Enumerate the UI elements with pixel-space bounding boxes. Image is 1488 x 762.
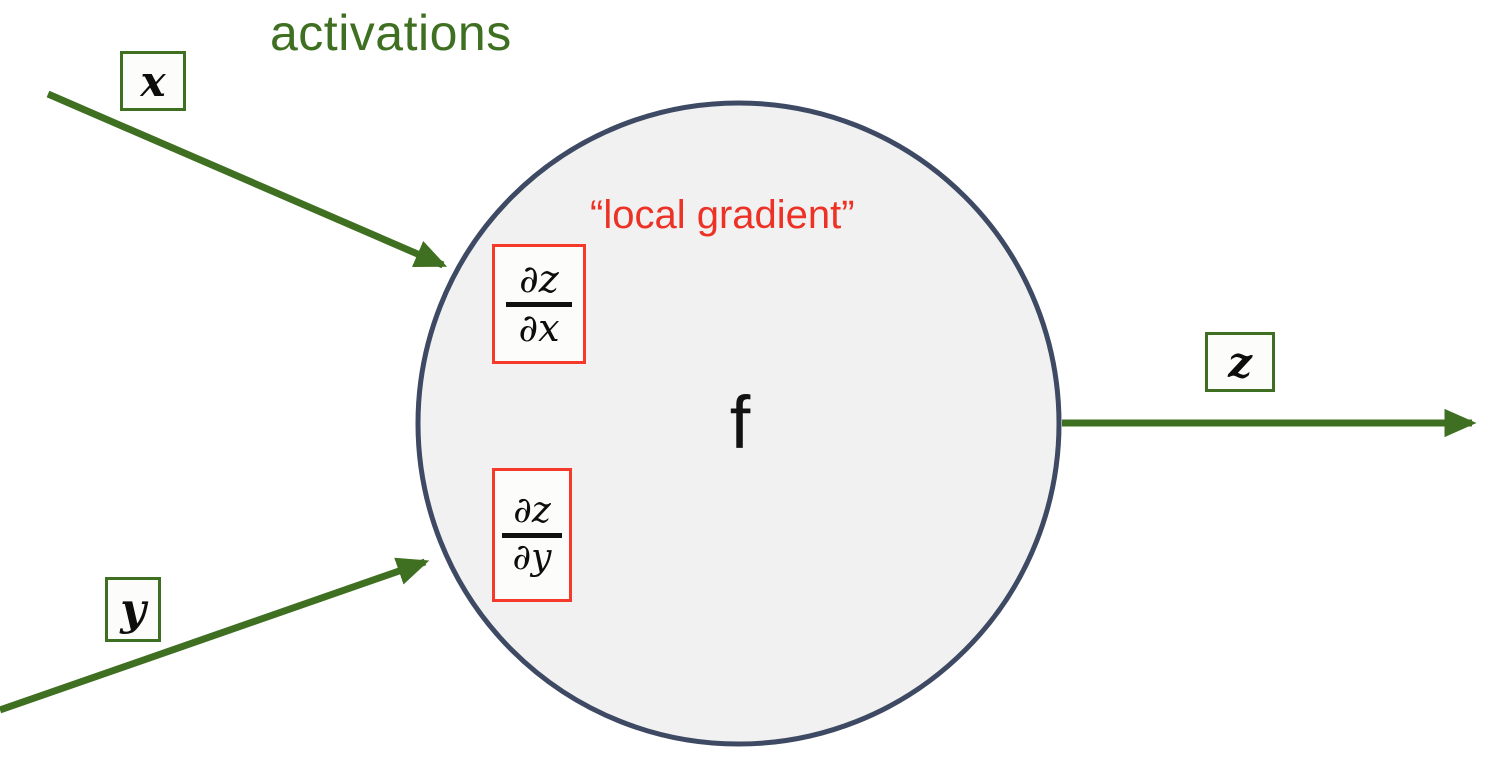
variable-box-z: z bbox=[1205, 332, 1275, 392]
variable-symbol-x: x bbox=[140, 57, 165, 106]
function-node-label: f bbox=[716, 386, 764, 460]
input-arrow-y bbox=[0, 562, 425, 710]
variable-box-y: y bbox=[105, 577, 161, 642]
activations-label: activations bbox=[270, 8, 512, 58]
local-gradient-box-dz-dy: ∂z ∂y bbox=[492, 468, 572, 602]
diagram-canvas: activations “local gradient” f x y z ∂z … bbox=[0, 0, 1488, 762]
variable-symbol-z: z bbox=[1228, 338, 1252, 387]
fraction-numerator: ∂z bbox=[511, 493, 553, 530]
local-gradient-label: “local gradient” bbox=[590, 193, 855, 237]
fraction-numerator: ∂z bbox=[517, 260, 561, 299]
local-gradient-box-dz-dx: ∂z ∂x bbox=[492, 244, 586, 364]
variable-symbol-y: y bbox=[120, 584, 146, 635]
input-arrow-x bbox=[48, 94, 443, 265]
fraction-denominator: ∂x bbox=[516, 309, 561, 348]
variable-box-x: x bbox=[120, 51, 186, 111]
fraction-denominator: ∂y bbox=[511, 540, 554, 577]
